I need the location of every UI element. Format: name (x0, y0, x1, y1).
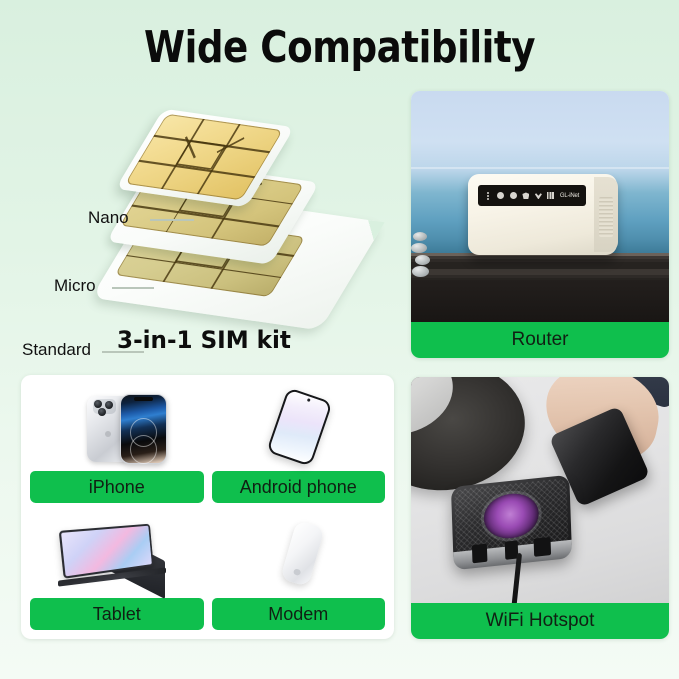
wide-compatibility-infographic: Wide Compatibility (0, 0, 679, 679)
device-cell-tablet[interactable]: Tablet (30, 511, 204, 630)
camera-lens-icon (105, 401, 113, 409)
wifi-hotspot-card[interactable]: WiFi Hotspot (411, 377, 669, 639)
pebble (415, 255, 430, 265)
modem-led-icon (293, 568, 301, 576)
iphone-front-view (120, 394, 167, 464)
router-vents (599, 197, 612, 237)
camera-lens-icon (98, 408, 106, 416)
page-title: Wide Compatibility (20, 22, 658, 74)
travel-router-device: GL-iNet (468, 174, 618, 255)
apple-logo-icon (105, 431, 111, 437)
router-indicator-panel: GL-iNet (478, 185, 586, 206)
sim-kit-panel: Nano Micro Standard 3-in-1 SIM kit (6, 88, 402, 360)
wifi-hotspot-label: WiFi Hotspot (411, 603, 669, 639)
iphone-camera-module (93, 399, 116, 414)
device-cell-modem[interactable]: Modem (212, 511, 386, 630)
front-camera-icon (306, 398, 310, 402)
pebbles-group (411, 230, 445, 280)
device-cell-iphone[interactable]: iPhone (30, 384, 204, 503)
hotspot-port (472, 544, 488, 564)
router-brand-logo: GL-iNet (560, 193, 579, 199)
device-grid: iPhone Android phone Tablet (21, 375, 394, 639)
wifi-icon (535, 192, 542, 199)
pebble (413, 232, 427, 241)
power-icon (497, 192, 504, 199)
router-photo: GL-iNet (411, 91, 669, 322)
device-label-modem: Modem (212, 598, 386, 630)
status-dots-icon (485, 192, 492, 199)
router-card[interactable]: GL-iNet Router (411, 91, 669, 358)
device-label-iphone: iPhone (30, 471, 204, 503)
dynamic-island-icon (134, 397, 154, 400)
router-label: Router (411, 322, 669, 358)
android-phone-thumbnail (212, 384, 386, 471)
wallpaper-ring (130, 435, 157, 464)
pebble (412, 266, 429, 277)
pebble (411, 243, 427, 253)
nano-leader-line (150, 219, 194, 221)
micro-leader-line (112, 287, 154, 289)
modem-thumbnail (212, 511, 386, 598)
hotspot-port (534, 537, 552, 557)
usb-modem-device (280, 520, 325, 587)
tablet-thumbnail (30, 511, 204, 598)
wifi-hotspot-photo (411, 377, 669, 603)
sim-kit-caption: 3-in-1 SIM kit (14, 326, 394, 354)
chip-trace (175, 140, 226, 170)
device-cell-android-phone[interactable]: Android phone (212, 384, 386, 503)
device-label-android-phone: Android phone (212, 471, 386, 503)
iphone-thumbnail (30, 384, 204, 471)
horizon-line (411, 167, 669, 169)
sim-kit-illustration: Nano Micro Standard (6, 88, 402, 316)
sim-label-micro: Micro (54, 276, 96, 296)
vpn-shield-icon (522, 192, 529, 199)
signal-bars-icon (547, 192, 554, 199)
mobile-hotspot-device (451, 475, 572, 569)
device-label-tablet: Tablet (30, 598, 204, 630)
deck-front-face (411, 280, 669, 322)
sim-label-nano: Nano (88, 208, 129, 228)
android-phone-device (266, 387, 332, 466)
internet-icon (510, 192, 517, 199)
